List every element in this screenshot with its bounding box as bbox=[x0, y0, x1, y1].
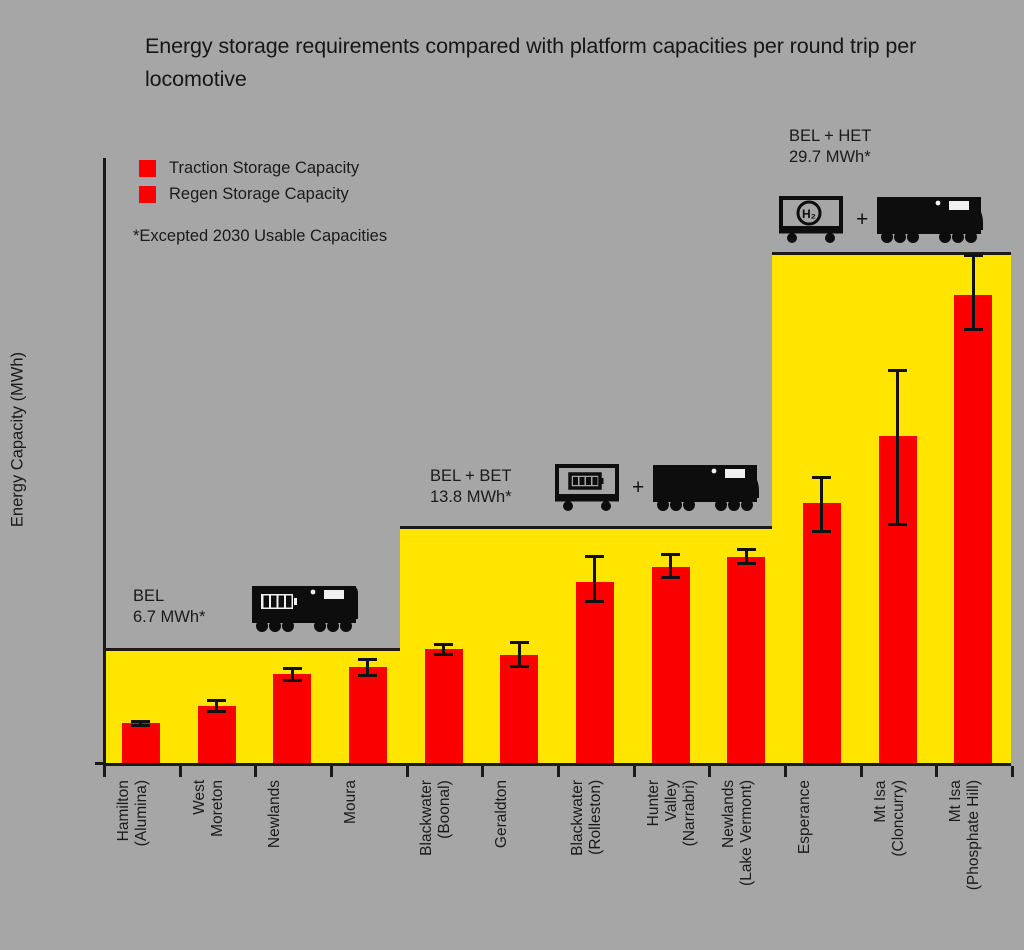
bar-4[interactable] bbox=[425, 649, 463, 763]
error-bar-11 bbox=[963, 254, 983, 331]
plus-sign-icon: + bbox=[632, 477, 644, 498]
x-axis-label-1: West Moreton bbox=[191, 780, 227, 837]
x-tick-mark-8 bbox=[708, 766, 711, 777]
x-axis-label-9: Esperance bbox=[796, 780, 814, 854]
annotation-bel: BEL 6.7 MWh* bbox=[133, 586, 205, 628]
x-tick-mark-end bbox=[1011, 766, 1014, 777]
x-tick-mark-3 bbox=[330, 766, 333, 777]
x-tick-mark-10 bbox=[860, 766, 863, 777]
x-axis-label-8: Newlands (Lake Vermont) bbox=[720, 780, 756, 886]
annotation-bel-label: BEL 6.7 MWh* bbox=[133, 586, 205, 628]
x-axis-label-7: Hunter Valley (Narrabri) bbox=[645, 780, 699, 846]
x-axis-label-3: Moura bbox=[342, 780, 360, 824]
energy-storage-bar-chart: Energy storage requirements compared wit… bbox=[0, 0, 1024, 950]
error-bar-10 bbox=[888, 369, 908, 526]
svg-text:H₂: H₂ bbox=[802, 207, 816, 221]
bar-5[interactable] bbox=[500, 655, 538, 763]
legend-note: *Excepted 2030 Usable Capacities bbox=[133, 227, 387, 246]
x-tick-mark-5 bbox=[481, 766, 484, 777]
bar-1[interactable] bbox=[198, 706, 236, 763]
x-tick-mark-4 bbox=[406, 766, 409, 777]
legend-item-regen: Regen Storage Capacity bbox=[139, 181, 359, 207]
legend-swatch-traction-icon bbox=[139, 160, 156, 177]
x-tick-mark-1 bbox=[179, 766, 182, 777]
x-axis-label-11: Mt Isa (Phosphate Hill) bbox=[947, 780, 983, 890]
x-axis-label-10: Mt Isa (Cloncurry) bbox=[872, 780, 908, 857]
legend-swatch-regen-icon bbox=[139, 186, 156, 203]
annotation-bel-het-icons: H₂ + bbox=[777, 193, 985, 245]
annotation-bel-bet-icons: + bbox=[553, 461, 761, 513]
legend-item-traction: Traction Storage Capacity bbox=[139, 155, 359, 181]
bar-11[interactable] bbox=[954, 295, 992, 763]
error-bar-2 bbox=[282, 667, 302, 682]
x-axis-label-4: Blackwater (Boonal) bbox=[418, 780, 454, 856]
y-axis-title: Energy Capacity (MWh) bbox=[9, 240, 28, 640]
error-bar-1 bbox=[207, 699, 227, 713]
error-bar-6 bbox=[585, 555, 605, 603]
bar-9[interactable] bbox=[803, 503, 841, 763]
x-axis-label-5: Geraldton bbox=[493, 780, 511, 848]
bar-0[interactable] bbox=[122, 723, 160, 763]
x-tick-mark-9 bbox=[784, 766, 787, 777]
x-axis-label-0: Hamilton (Alumina) bbox=[115, 780, 151, 846]
error-bar-9 bbox=[812, 476, 832, 533]
x-axis-label-6: Blackwater (Rolleston) bbox=[569, 780, 605, 856]
x-tick-mark-2 bbox=[254, 766, 257, 777]
x-tick-mark-7 bbox=[633, 766, 636, 777]
error-bar-4 bbox=[434, 643, 454, 657]
legend: Traction Storage Capacity Regen Storage … bbox=[139, 155, 359, 207]
error-bar-8 bbox=[736, 548, 756, 565]
x-tick-mark-0 bbox=[103, 766, 106, 777]
bar-8[interactable] bbox=[727, 557, 765, 763]
annotation-bel-het-label: BEL + HET 29.7 MWh* bbox=[789, 126, 871, 168]
chart-title: Energy storage requirements compared wit… bbox=[145, 30, 995, 96]
error-bar-3 bbox=[358, 658, 378, 677]
x-tick-mark-11 bbox=[935, 766, 938, 777]
y-tick-mark-0 bbox=[95, 762, 104, 765]
bar-3[interactable] bbox=[349, 667, 387, 763]
error-bar-7 bbox=[661, 553, 681, 579]
battery-tender-icon bbox=[553, 463, 625, 511]
annotation-bel-het: BEL + HET 29.7 MWh* bbox=[789, 126, 871, 168]
battery-locomotive-icon bbox=[651, 461, 761, 513]
annotation-bel-icons bbox=[250, 582, 360, 634]
battery-locomotive-icon bbox=[250, 582, 360, 634]
x-tick-mark-6 bbox=[557, 766, 560, 777]
y-axis-line bbox=[103, 158, 106, 766]
error-bar-5 bbox=[509, 641, 529, 669]
plus-sign-icon: + bbox=[856, 209, 868, 230]
annotation-bel-bet-label: BEL + BET 13.8 MWh* bbox=[430, 466, 512, 508]
legend-label-regen: Regen Storage Capacity bbox=[169, 185, 349, 204]
bar-2[interactable] bbox=[273, 674, 311, 763]
bar-6[interactable] bbox=[576, 582, 614, 763]
battery-locomotive-icon bbox=[875, 193, 985, 245]
hydrogen-tender-icon: H₂ bbox=[777, 195, 849, 243]
legend-label-traction: Traction Storage Capacity bbox=[169, 159, 359, 178]
x-axis-label-2: Newlands bbox=[266, 780, 284, 848]
bar-7[interactable] bbox=[652, 567, 690, 763]
annotation-bel-bet: BEL + BET 13.8 MWh* bbox=[430, 466, 512, 508]
error-bar-0 bbox=[131, 720, 151, 727]
